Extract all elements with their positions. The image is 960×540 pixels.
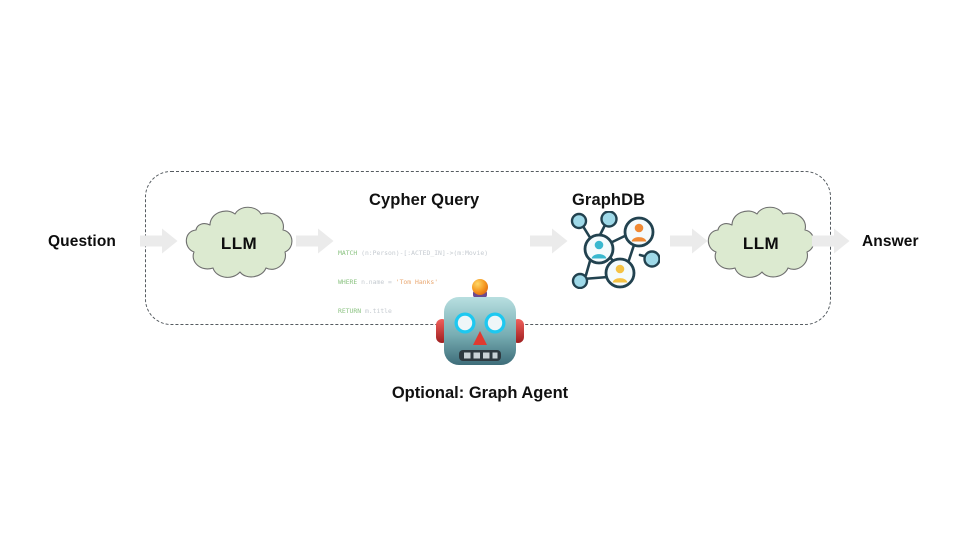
code-keyword-return: RETURN — [338, 307, 361, 315]
cypher-query-heading: Cypher Query — [369, 192, 479, 209]
code-line-2-mid: n.name = — [357, 278, 395, 286]
arrow-cypher-to-graphdb — [530, 228, 568, 254]
question-label: Question — [48, 234, 116, 250]
code-line-1-rest: (n:Person)-[:ACTED_IN]->(m:Movie) — [357, 249, 488, 257]
code-line-3-rest: m.title — [361, 307, 392, 315]
arrow-llm-to-answer — [812, 228, 850, 254]
arrow-question-to-llm — [140, 228, 178, 254]
graphdb-heading: GraphDB — [572, 192, 645, 209]
llm-node-second: LLM — [702, 203, 820, 283]
robot-icon — [430, 279, 530, 375]
diagram-canvas: Question LLM Cypher Query MATCH (n:Perso… — [0, 0, 960, 540]
answer-label: Answer — [862, 234, 919, 250]
code-keyword-where: WHERE — [338, 278, 357, 286]
code-keyword-match: MATCH — [338, 249, 357, 257]
code-line-1: MATCH (n:Person)-[:ACTED_IN]->(m:Movie) — [338, 249, 526, 259]
llm-node-first: LLM — [180, 203, 298, 283]
arrow-llm-to-cypher — [296, 228, 334, 254]
agent-caption: Optional: Graph Agent — [0, 385, 960, 402]
graph-network-icon — [568, 211, 660, 289]
